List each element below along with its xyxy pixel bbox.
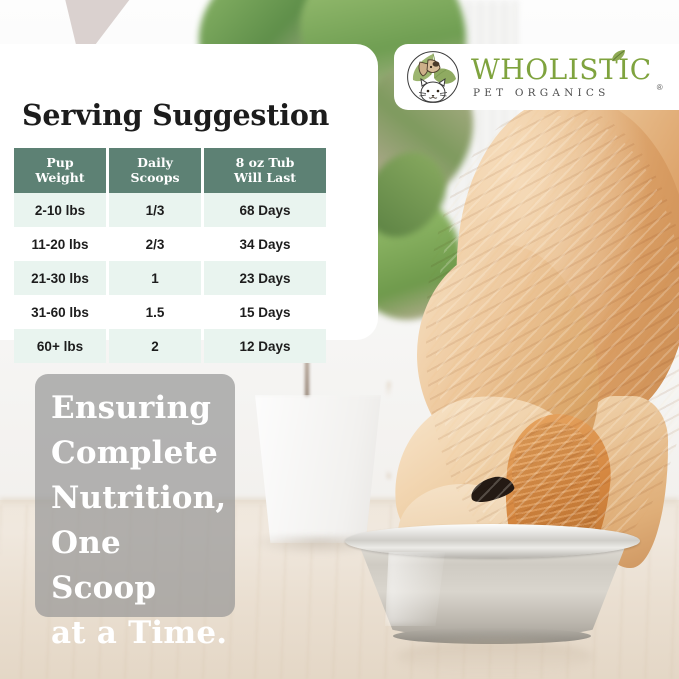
cell-tub-duration: 23 Days [204, 261, 326, 295]
screenshot-canvas: Serving Suggestion Pup Weight Daily Scoo… [0, 0, 679, 679]
cell-tub-duration: 12 Days [204, 329, 326, 363]
tagline-line: Nutrition, [51, 476, 235, 521]
column-header-line-2: Weight [16, 170, 104, 185]
column-header-tub-duration: 8 oz Tub Will Last [204, 148, 326, 193]
table-header-row: Pup Weight Daily Scoops 8 oz Tub Will La… [14, 148, 326, 193]
logo-tagline: PET ORGANICS [471, 87, 652, 99]
table-row: 31-60 lbs 1.5 15 Days [14, 295, 326, 329]
table-row: 11-20 lbs 2/3 34 Days [14, 227, 326, 261]
cell-tub-duration: 34 Days [204, 227, 326, 261]
column-header-pup-weight: Pup Weight [14, 148, 106, 193]
tagline-line: Ensuring [51, 386, 235, 431]
dog-and-cat-leaf-badge-icon [406, 50, 460, 104]
serving-suggestion-card: Serving Suggestion Pup Weight Daily Scoo… [0, 44, 378, 340]
logo-wordmark-group: WHOLISTIC PET ORGANICS ® [471, 56, 652, 99]
cell-daily-scoops: 1 [109, 261, 201, 295]
dog-icon [366, 96, 679, 566]
cell-pup-weight: 60+ lbs [14, 329, 106, 363]
cell-pup-weight: 2-10 lbs [14, 193, 106, 227]
column-header-line-1: Pup [16, 155, 104, 170]
cell-tub-duration: 68 Days [204, 193, 326, 227]
column-header-line-2: Scoops [111, 170, 199, 185]
cell-pup-weight: 11-20 lbs [14, 227, 106, 261]
registered-trademark-symbol: ® [657, 83, 663, 92]
tagline-line: Complete [51, 431, 235, 476]
table-row: 60+ lbs 2 12 Days [14, 329, 326, 363]
column-header-line-1: Daily [111, 155, 199, 170]
cell-daily-scoops: 1.5 [109, 295, 201, 329]
table-row: 2-10 lbs 1/3 68 Days [14, 193, 326, 227]
cell-daily-scoops: 1/3 [109, 193, 201, 227]
column-header-daily-scoops: Daily Scoops [109, 148, 201, 193]
cell-pup-weight: 31-60 lbs [14, 295, 106, 329]
brand-logo: WHOLISTIC PET ORGANICS ® [394, 44, 679, 110]
column-header-line-1: 8 oz Tub [206, 155, 324, 170]
serving-suggestion-table: Pup Weight Daily Scoops 8 oz Tub Will La… [14, 148, 326, 363]
tagline-line: at a Time. [51, 611, 235, 656]
bowl-floor-reflection [397, 640, 593, 674]
tagline-overlay: Ensuring Complete Nutrition, One Scoop a… [35, 374, 235, 617]
cell-daily-scoops: 2/3 [109, 227, 201, 261]
table-body: 2-10 lbs 1/3 68 Days 11-20 lbs 2/3 34 Da… [14, 193, 326, 363]
bowl-highlight [385, 552, 445, 626]
cell-pup-weight: 21-30 lbs [14, 261, 106, 295]
table-row: 21-30 lbs 1 23 Days [14, 261, 326, 295]
tagline-line: One Scoop [51, 521, 235, 611]
cell-tub-duration: 15 Days [204, 295, 326, 329]
leaf-icon [611, 50, 626, 63]
cell-daily-scoops: 2 [109, 329, 201, 363]
dog-fur-highlights [436, 116, 679, 556]
page-title: Serving Suggestion [22, 98, 329, 132]
column-header-line-2: Will Last [206, 170, 324, 185]
dog-bowl-icon [345, 524, 640, 646]
